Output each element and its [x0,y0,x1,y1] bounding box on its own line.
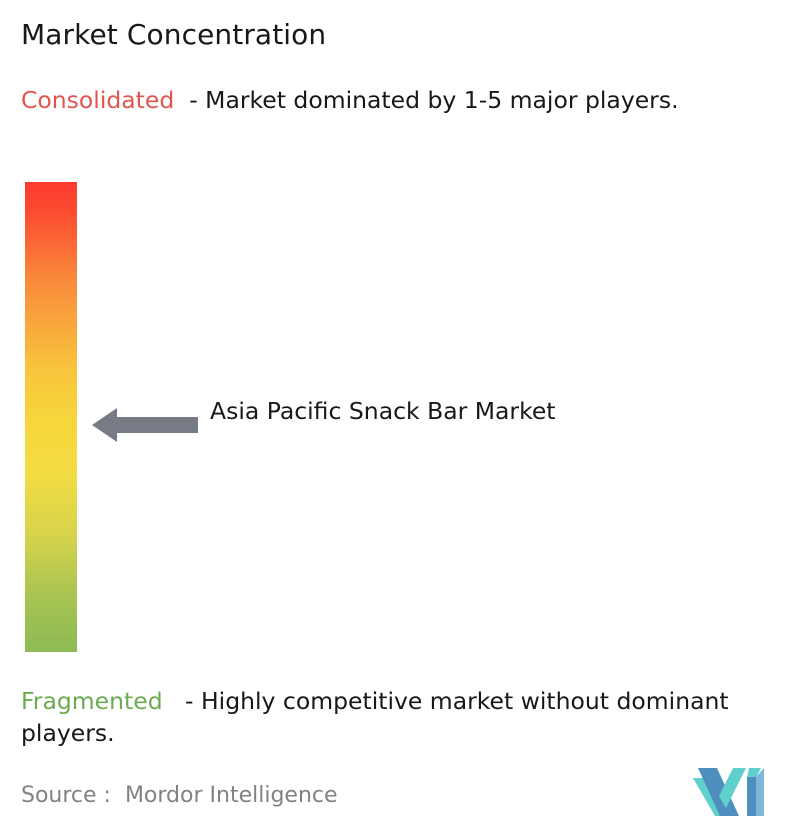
market-pointer-label: Asia Pacific Snack Bar Market [210,394,570,429]
legend-fragmented: Fragmented - Highly competitive market w… [21,685,783,749]
concentration-scale-bar [25,182,77,652]
page-title: Market Concentration [21,20,326,51]
mordor-intelligence-logo-icon [693,768,765,816]
legend-consolidated-description: Market dominated by 1-5 major players. [205,86,678,114]
chart-canvas: Market Concentration Consolidated - Mark… [0,0,796,834]
legend-consolidated-key: Consolidated [21,86,174,114]
legend-consolidated: Consolidated - Market dominated by 1-5 m… [21,84,773,116]
legend-fragmented-separator: - [163,687,201,715]
legend-consolidated-separator: - [174,86,205,114]
source-label: Source : Mordor Intelligence [21,783,338,809]
left-arrow-icon [92,405,198,445]
legend-fragmented-key: Fragmented [21,687,163,715]
